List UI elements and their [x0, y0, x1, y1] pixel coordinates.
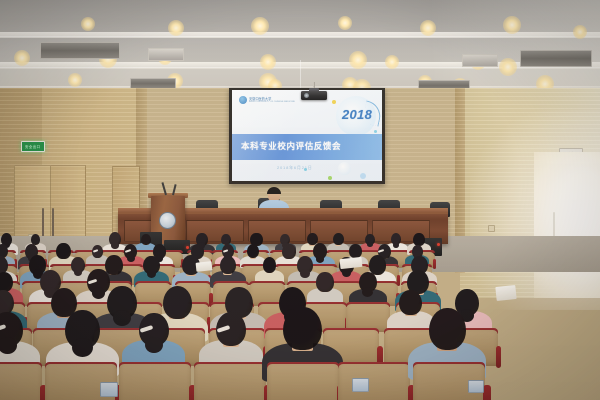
audience-head	[429, 308, 466, 350]
audience-head	[263, 257, 277, 273]
audience-head	[221, 234, 231, 245]
exit-sign-left-label: 安全出口	[25, 145, 40, 149]
university-logo-icon	[239, 96, 247, 104]
auditorium-seat-armrest	[496, 346, 502, 368]
audience-head	[105, 255, 123, 275]
lectern-emblem-icon	[159, 212, 176, 229]
slide-org-name-sub: ANHUI UNIVERSITY OF CHINESE MEDICINE	[249, 101, 295, 104]
auditorium-seat	[338, 364, 410, 400]
audience-hair-bun	[362, 287, 373, 297]
audience-head	[283, 307, 322, 350]
ceiling-downlight	[251, 17, 269, 35]
slide-year-text: 2018	[342, 107, 372, 122]
audience-head	[163, 286, 192, 319]
audience-hair-bun	[113, 310, 131, 326]
ceiling-downlight	[573, 25, 587, 39]
ceiling-seam-1	[0, 36, 600, 37]
slide-dot-green	[328, 176, 332, 180]
slide-dot-yellow	[332, 100, 336, 104]
auditorium-seat	[0, 364, 42, 400]
slide-dot-cyan	[374, 130, 377, 133]
audience-phone	[352, 378, 369, 392]
audience-head	[282, 244, 295, 259]
ceiling-downlight	[14, 50, 30, 66]
wall-outlet-right	[488, 225, 495, 232]
slide-bubble-large	[338, 162, 351, 175]
ceiling-air-vent	[520, 50, 592, 67]
audience-head	[247, 244, 259, 258]
slide-logo: 安徽中医药大学 ANHUI UNIVERSITY OF CHINESE MEDI…	[239, 96, 295, 104]
audience-hair-bun	[342, 269, 351, 277]
audience-head	[413, 233, 424, 246]
audience-hair-bun	[111, 242, 118, 249]
audience-handout	[196, 261, 213, 272]
auditorium-seat	[194, 364, 266, 400]
audience-head	[220, 256, 237, 275]
ceiling-downlight	[168, 20, 184, 36]
slide-title-text: 本科专业校内评估反馈会	[241, 140, 341, 152]
slide-date-text: 2018年6月21日	[277, 165, 313, 171]
exit-sign-left: 安全出口	[21, 141, 45, 152]
audience-hair-bun	[300, 269, 310, 278]
ceiling-downlight	[349, 51, 367, 69]
audience-head	[369, 255, 386, 274]
ceiling-downlight	[385, 55, 399, 69]
auditorium-photo: 安全出口 安全出口 安徽中医药大学 ANHUI UNIVERSITY OF CH…	[0, 0, 600, 400]
ceiling-downlight	[260, 54, 276, 70]
speaker-led-indicator	[437, 243, 440, 246]
ceiling-air-vent	[462, 54, 498, 67]
auditorium-seat	[267, 364, 339, 400]
ceiling-air-vent	[148, 48, 184, 61]
ceiling-downlight	[81, 17, 95, 31]
projector-lens-icon	[304, 93, 309, 98]
audience-head	[399, 290, 422, 316]
right-daylight-window	[534, 152, 600, 298]
audience-handout	[495, 285, 516, 301]
audience-head	[316, 272, 333, 291]
audience-phone	[100, 382, 118, 397]
audience-head	[141, 234, 151, 245]
auditorium-seat-armrest	[433, 259, 436, 269]
ceiling-downlight	[499, 58, 517, 76]
ceiling-downlight	[338, 16, 352, 30]
audience-hair-bun	[316, 255, 325, 263]
auditorium-seat	[119, 364, 191, 400]
audience-hair-bun	[127, 255, 135, 262]
projection-screen: 安徽中医药大学 ANHUI UNIVERSITY OF CHINESE MEDI…	[232, 90, 382, 181]
slide-dot-cyan-2	[304, 168, 307, 171]
speaker-hair	[267, 187, 281, 194]
ceiling-downlight	[68, 73, 82, 87]
ceiling-downlight	[503, 16, 521, 34]
slide-bubble-small	[360, 173, 366, 179]
head-table-panel-2	[186, 220, 244, 242]
auditorium-seat-armrest	[483, 385, 490, 400]
audience-phone	[468, 380, 484, 393]
audience-head	[333, 233, 344, 245]
audience-head	[56, 243, 70, 259]
ceiling-air-vent	[40, 42, 120, 59]
audience-hair-bun	[72, 338, 93, 357]
audience-hair-bun	[145, 337, 163, 354]
ceiling-downlight	[420, 20, 436, 36]
